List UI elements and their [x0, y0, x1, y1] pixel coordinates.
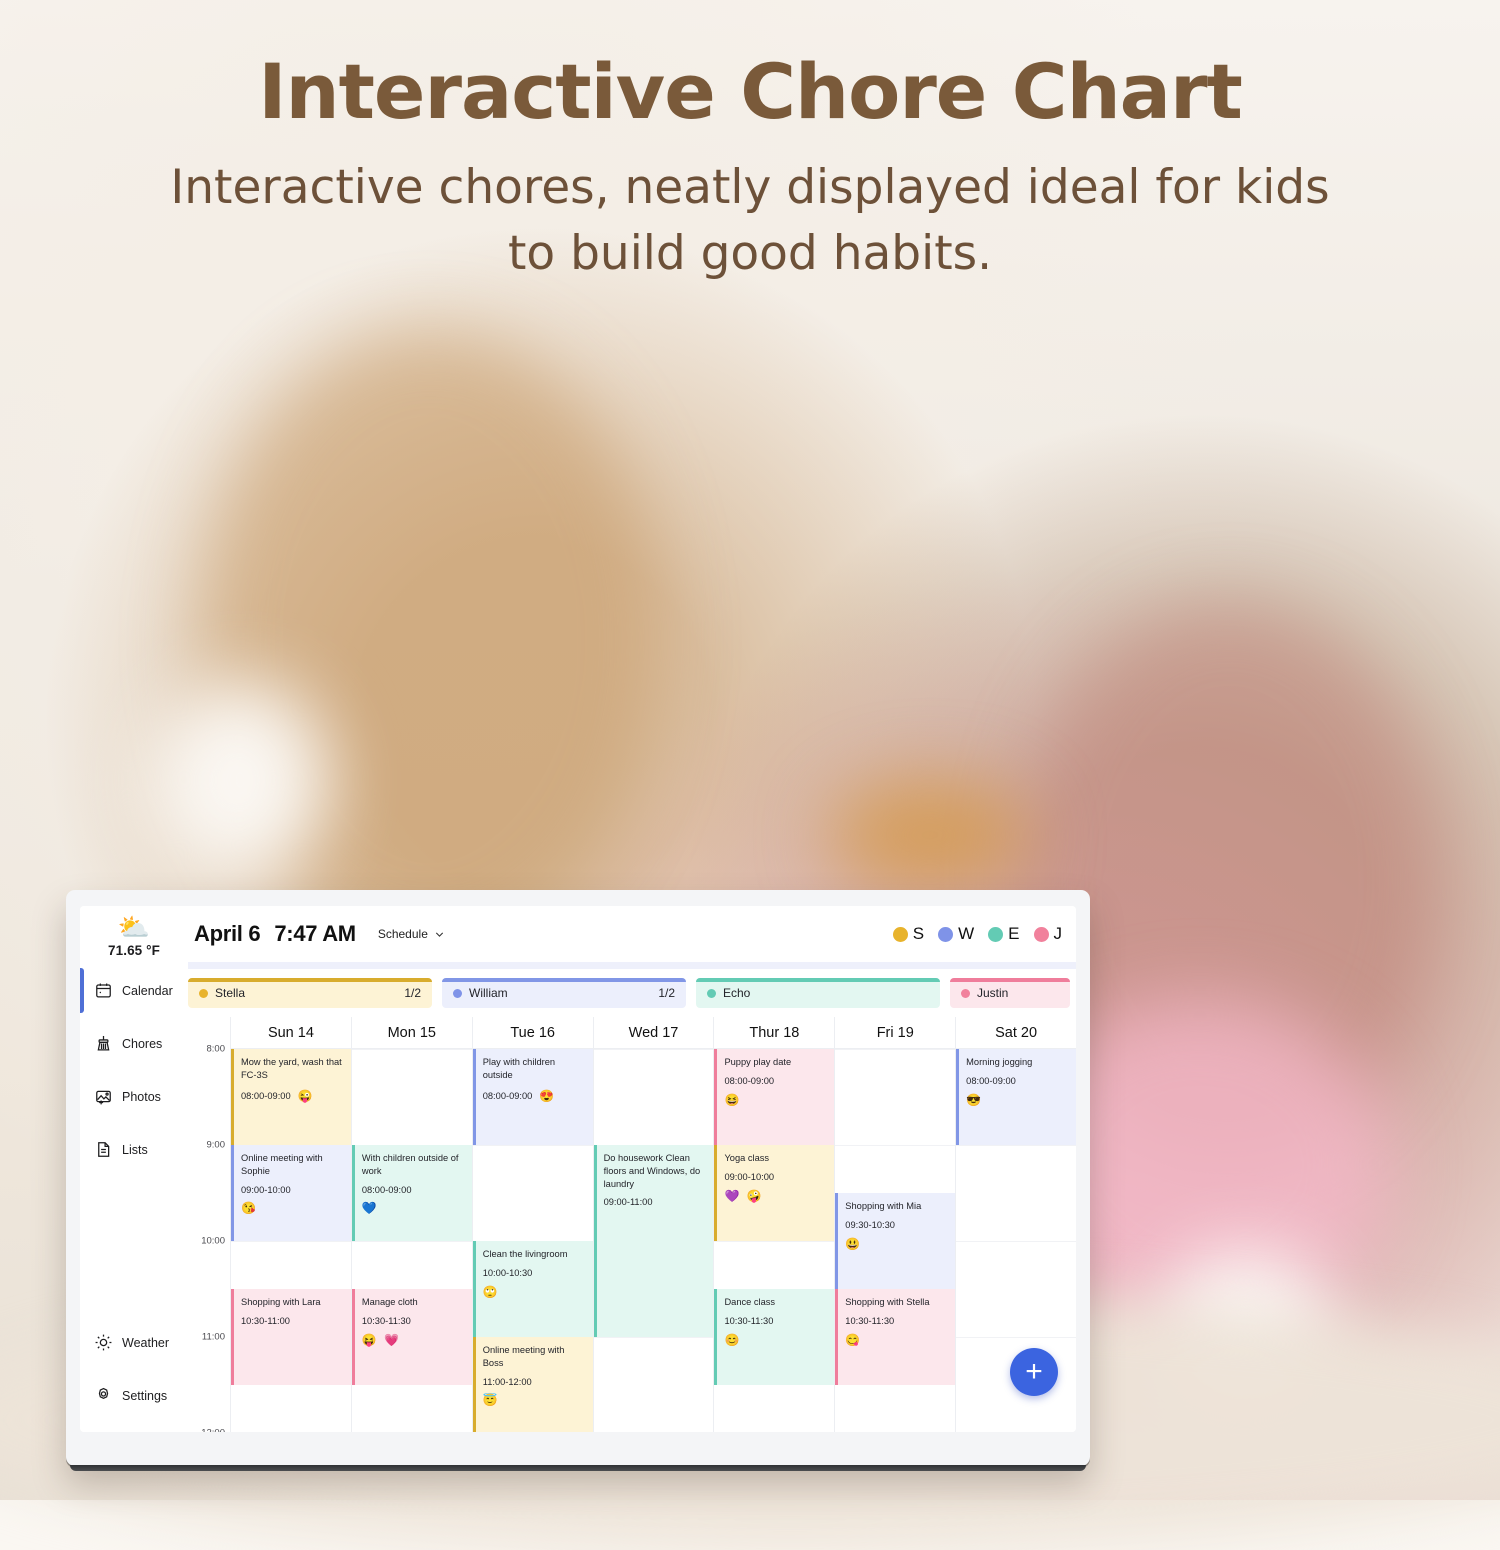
marketing-header: Interactive Chore Chart Interactive chor… — [0, 52, 1500, 288]
time-label: 8:00 — [207, 1044, 226, 1055]
event-time: 08:00-09:00 — [241, 1090, 291, 1103]
hour-gridline — [473, 1145, 593, 1146]
event-title: Play with children outside — [483, 1056, 587, 1082]
event-emoji: 😘 — [241, 1200, 345, 1217]
calendar-event[interactable]: With children outside of work08:00-09:00… — [352, 1145, 472, 1241]
event-emoji: 😜 — [298, 1088, 315, 1105]
event-title: Shopping with Mia — [845, 1200, 949, 1213]
sidebar-item-photos[interactable]: Photos — [80, 1070, 188, 1123]
event-title: Mow the yard, wash that FC-3S — [241, 1056, 345, 1082]
event-time: 10:30-11:30 — [362, 1315, 466, 1328]
sidebar-item-lists[interactable]: Lists — [80, 1123, 188, 1176]
person-chip[interactable]: William1/2 — [442, 978, 686, 1008]
event-title: Manage cloth — [362, 1296, 466, 1309]
person-chip-count: 1/2 — [404, 986, 421, 1000]
person-color-dot-icon — [961, 989, 970, 998]
calendar-event[interactable]: Shopping with Mia09:30-10:30😃 — [835, 1193, 955, 1289]
time-label: 12:00 — [201, 1428, 225, 1433]
gear-icon — [94, 1386, 113, 1405]
event-time: 09:00-10:00 — [724, 1171, 828, 1184]
sidebar-item-label: Settings — [122, 1389, 167, 1403]
person-chip-name: Stella — [215, 986, 404, 1000]
view-selector-schedule[interactable]: Schedule — [378, 927, 445, 941]
sidebar-spacer — [80, 1176, 188, 1316]
day-header[interactable]: Sat 20 — [956, 1017, 1076, 1049]
day-body: With children outside of work08:00-09:00… — [352, 1049, 472, 1432]
person-chip-name: Echo — [723, 986, 929, 1000]
event-time: 10:30-11:30 — [724, 1315, 828, 1328]
avatar-dot-icon — [988, 927, 1003, 942]
day-header[interactable]: Thur 18 — [714, 1017, 834, 1049]
event-emoji: 💙 — [362, 1200, 466, 1217]
person-chip[interactable]: Stella1/2 — [188, 978, 432, 1008]
hour-gridline — [956, 1145, 1076, 1146]
day-column: Mon 15With children outside of work08:00… — [351, 1017, 472, 1432]
avatar-initial: E — [1008, 924, 1019, 944]
event-emoji: 😍 — [539, 1088, 556, 1105]
calendar-grid: 8:009:0010:0011:0012:00 Sun 14Mow the ya… — [188, 1017, 1076, 1432]
hour-gridline — [835, 1145, 955, 1146]
add-event-button[interactable]: + — [1010, 1348, 1058, 1396]
hour-gridline — [956, 1337, 1076, 1338]
event-emoji: 😆 — [724, 1092, 828, 1109]
current-time: 7:47 AM — [274, 921, 355, 947]
event-title: Online meeting with Sophie — [241, 1152, 345, 1178]
person-color-dot-icon — [199, 989, 208, 998]
sidebar-item-label: Calendar — [122, 984, 173, 998]
event-title: Shopping with Stella — [845, 1296, 949, 1309]
day-header[interactable]: Wed 17 — [594, 1017, 714, 1049]
event-emoji: 😝 💗 — [362, 1332, 466, 1349]
event-time: 08:00-09:00 — [483, 1090, 533, 1103]
day-header[interactable]: Tue 16 — [473, 1017, 593, 1049]
hour-gridline — [231, 1241, 351, 1242]
sidebar-item-label: Lists — [122, 1143, 148, 1157]
person-chip-row: Stella1/2William1/2EchoJustin — [188, 969, 1076, 1017]
time-axis: 8:009:0010:0011:0012:00 — [188, 1017, 230, 1432]
weather-widget[interactable]: ⛅ 71.65 °F — [80, 912, 188, 960]
event-title: Do housework Clean floors and Windows, d… — [604, 1152, 708, 1190]
time-label: 11:00 — [202, 1332, 225, 1343]
avatar-list: SWEJ — [893, 924, 1062, 944]
day-body: Do housework Clean floors and Windows, d… — [594, 1049, 714, 1432]
sidebar-item-label: Weather — [122, 1336, 169, 1350]
event-emoji: 🙄 — [483, 1284, 587, 1301]
day-body: Play with children outside08:00-09:00😍Cl… — [473, 1049, 593, 1432]
photo-blob-croissant — [830, 780, 1030, 890]
list-document-icon — [94, 1140, 113, 1159]
photo-blob-mug-left — [150, 680, 330, 880]
calendar-icon — [94, 981, 113, 1000]
photo-add-icon — [94, 1087, 113, 1106]
hour-gridline — [352, 1049, 472, 1050]
event-time: 08:00-09:00 — [724, 1075, 828, 1088]
event-emoji: 😎 — [966, 1092, 1070, 1109]
event-title: With children outside of work — [362, 1152, 466, 1178]
event-emoji: 😇 — [483, 1392, 587, 1409]
person-chip[interactable]: Justin — [950, 978, 1070, 1008]
event-time: 09:00-10:00 — [241, 1184, 345, 1197]
calendar-event[interactable]: Shopping with Lara10:30-11:00 — [231, 1289, 351, 1385]
event-title: Online meeting with Boss — [483, 1344, 587, 1370]
person-chip-accent-bar — [696, 978, 940, 982]
day-column: Fri 19Shopping with Mia09:30-10:30😃Shopp… — [834, 1017, 955, 1432]
time-label: 10:00 — [201, 1236, 225, 1247]
calendar-event[interactable]: Shopping with Stella10:30-11:30😋 — [835, 1289, 955, 1385]
event-time: 09:00-11:00 — [604, 1196, 708, 1209]
event-meta-row: 08:00-09:00😍 — [483, 1088, 587, 1105]
avatar-initial: S — [913, 924, 924, 944]
top-bar: April 6 7:47 AM Schedule SWEJ — [188, 906, 1076, 962]
tablet-screen: ⛅ 71.65 °F Calendar Chores Photos — [80, 906, 1076, 1432]
sidebar-item-weather[interactable]: Weather — [80, 1316, 188, 1369]
hour-gridline — [594, 1337, 714, 1338]
day-column: Tue 16Play with children outside08:00-09… — [472, 1017, 593, 1432]
avatar[interactable]: E — [988, 924, 1019, 944]
event-time: 08:00-09:00 — [966, 1075, 1070, 1088]
chevron-down-icon — [434, 929, 445, 940]
day-body: Shopping with Mia09:30-10:30😃Shopping wi… — [835, 1049, 955, 1432]
calendar-event[interactable]: Dance class10:30-11:30😊 — [714, 1289, 834, 1385]
calendar-event[interactable]: Play with children outside08:00-09:00😍 — [473, 1049, 593, 1145]
avatar[interactable]: S — [893, 924, 924, 944]
event-time: 09:30-10:30 — [845, 1219, 949, 1232]
avatar-initial: J — [1054, 924, 1063, 944]
broom-icon — [94, 1034, 113, 1053]
event-emoji: 😃 — [845, 1236, 949, 1253]
event-emoji: 😊 — [724, 1332, 828, 1349]
divider — [188, 962, 1076, 969]
calendar-event[interactable]: Mow the yard, wash that FC-3S08:00-09:00… — [231, 1049, 351, 1145]
event-title: Yoga class — [724, 1152, 828, 1165]
event-title: Clean the livingroom — [483, 1248, 587, 1261]
sun-icon — [94, 1333, 113, 1352]
event-meta-row: 08:00-09:00😜 — [241, 1088, 345, 1105]
day-columns: Sun 14Mow the yard, wash that FC-3S08:00… — [230, 1017, 1076, 1432]
weather-temperature: 71.65 °F — [108, 943, 160, 958]
sidebar-item-label: Photos — [122, 1090, 161, 1104]
calendar-event[interactable]: Puppy play date08:00-09:00😆 — [714, 1049, 834, 1145]
event-time: 10:30-11:00 — [241, 1315, 345, 1328]
hour-gridline — [714, 1241, 834, 1242]
hour-gridline — [352, 1241, 472, 1242]
day-header[interactable]: Fri 19 — [835, 1017, 955, 1049]
calendar-event[interactable]: Online meeting with Sophie09:00-10:00😘 — [231, 1145, 351, 1241]
calendar-event[interactable]: Yoga class09:00-10:00💜 🤪 — [714, 1145, 834, 1241]
person-chip[interactable]: Echo — [696, 978, 940, 1008]
view-selector-label: Schedule — [378, 927, 428, 941]
hour-gridline — [594, 1049, 714, 1050]
day-body: Puppy play date08:00-09:00😆Yoga class09:… — [714, 1049, 834, 1432]
avatar[interactable]: W — [938, 924, 974, 944]
tablet-device: ⛅ 71.65 °F Calendar Chores Photos — [66, 890, 1090, 1466]
day-column: Thur 18Puppy play date08:00-09:00😆Yoga c… — [713, 1017, 834, 1432]
calendar-event[interactable]: Morning jogging08:00-09:00😎 — [956, 1049, 1076, 1145]
avatar-dot-icon — [1034, 927, 1049, 942]
hour-gridline — [835, 1049, 955, 1050]
time-label: 9:00 — [207, 1140, 226, 1151]
person-chip-accent-bar — [188, 978, 432, 982]
calendar-event[interactable]: Do housework Clean floors and Windows, d… — [594, 1145, 714, 1337]
event-emoji: 😋 — [845, 1332, 949, 1349]
day-header[interactable]: Mon 15 — [352, 1017, 472, 1049]
avatar-dot-icon — [938, 927, 953, 942]
sidebar-item-chores[interactable]: Chores — [80, 1017, 188, 1070]
person-color-dot-icon — [453, 989, 462, 998]
person-chip-name: William — [469, 986, 658, 1000]
day-body: Mow the yard, wash that FC-3S08:00-09:00… — [231, 1049, 351, 1432]
page-subtitle: Interactive chores, neatly displayed ide… — [0, 155, 1500, 288]
avatar-dot-icon — [893, 927, 908, 942]
sidebar-item-calendar[interactable]: Calendar — [80, 964, 188, 1017]
person-chip-accent-bar — [950, 978, 1070, 982]
avatar-initial: W — [958, 924, 974, 944]
day-header[interactable]: Sun 14 — [231, 1017, 351, 1049]
day-column: Wed 17Do housework Clean floors and Wind… — [593, 1017, 714, 1432]
event-time: 08:00-09:00 — [362, 1184, 466, 1197]
event-time: 10:30-11:30 — [845, 1315, 949, 1328]
sidebar-item-settings[interactable]: Settings — [80, 1369, 188, 1422]
sidebar-item-label: Chores — [122, 1037, 162, 1051]
event-time: 10:00-10:30 — [483, 1267, 587, 1280]
current-date: April 6 — [194, 921, 260, 947]
person-chip-accent-bar — [442, 978, 686, 982]
sun-behind-cloud-icon: ⛅ — [80, 912, 188, 942]
main-panel: April 6 7:47 AM Schedule SWEJ Stella1/2W… — [188, 906, 1076, 1432]
sidebar: ⛅ 71.65 °F Calendar Chores Photos — [80, 906, 188, 1432]
event-emoji: 💜 🤪 — [724, 1188, 828, 1205]
person-chip-count: 1/2 — [658, 986, 675, 1000]
calendar-event[interactable]: Online meeting with Boss11:00-12:00😇 — [473, 1337, 593, 1432]
avatar[interactable]: J — [1034, 924, 1063, 944]
event-title: Shopping with Lara — [241, 1296, 345, 1309]
event-title: Morning jogging — [966, 1056, 1070, 1069]
person-chip-name: Justin — [977, 986, 1059, 1000]
calendar-event[interactable]: Manage cloth10:30-11:30😝 💗 — [352, 1289, 472, 1385]
person-color-dot-icon — [707, 989, 716, 998]
event-title: Puppy play date — [724, 1056, 828, 1069]
page-title: Interactive Chore Chart — [0, 52, 1500, 133]
hour-gridline — [956, 1241, 1076, 1242]
day-column: Sun 14Mow the yard, wash that FC-3S08:00… — [230, 1017, 351, 1432]
event-title: Dance class — [724, 1296, 828, 1309]
calendar-event[interactable]: Clean the livingroom10:00-10:30🙄 — [473, 1241, 593, 1337]
event-time: 11:00-12:00 — [483, 1376, 587, 1389]
